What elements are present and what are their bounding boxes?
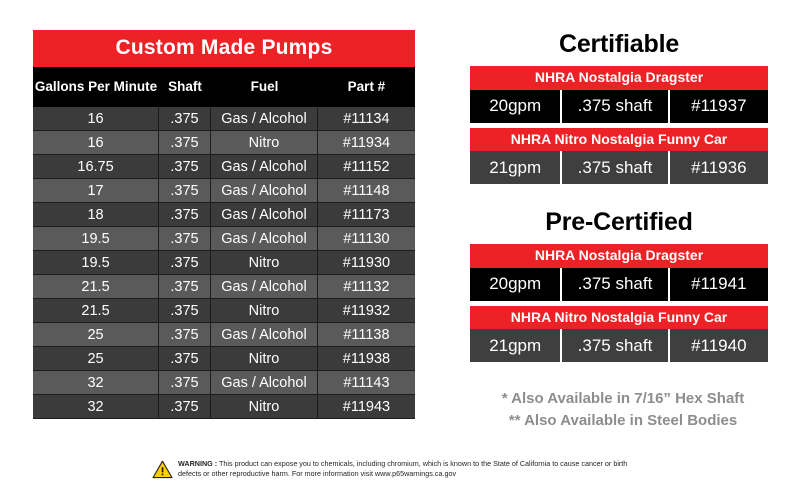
table-row: 32.375Nitro#11943 bbox=[33, 395, 415, 419]
cell-fuel: Nitro bbox=[211, 347, 318, 370]
certifiable-section: Certifiable NHRA Nostalgia Dragster20gpm… bbox=[470, 30, 768, 189]
precertified-cell-part-number: #11940 bbox=[670, 329, 768, 362]
warning-triangle-icon bbox=[152, 460, 173, 484]
prop65-warning-text: WARNING : This product can expose you to… bbox=[178, 459, 648, 480]
cell-fuel: Gas / Alcohol bbox=[211, 275, 318, 298]
cell-gallons-per-minute: 32 bbox=[33, 395, 159, 418]
cell-part-number: #11134 bbox=[318, 107, 415, 130]
cell-shaft: .375 bbox=[159, 155, 211, 178]
cell-fuel: Gas / Alcohol bbox=[211, 323, 318, 346]
table-row: 21.5.375Nitro#11932 bbox=[33, 299, 415, 323]
table-row: 16.375Gas / Alcohol#11134 bbox=[33, 107, 415, 131]
cell-fuel: Gas / Alcohol bbox=[211, 371, 318, 394]
precertified-cell-gpm: 21gpm bbox=[470, 329, 562, 362]
cell-fuel: Nitro bbox=[211, 131, 318, 154]
table-row: 17.375Gas / Alcohol#11148 bbox=[33, 179, 415, 203]
certifiable-cell-part-number: #11937 bbox=[670, 90, 768, 123]
cell-part-number: #11148 bbox=[318, 179, 415, 202]
footnote-line-2: ** Also Available in Steel Bodies bbox=[468, 410, 778, 432]
cell-shaft: .375 bbox=[159, 203, 211, 226]
main-table-title: Custom Made Pumps bbox=[33, 30, 415, 67]
certifiable-cell-gpm: 20gpm bbox=[470, 90, 562, 123]
main-table-body: 16.375Gas / Alcohol#1113416.375Nitro#119… bbox=[33, 107, 415, 419]
cell-part-number: #11938 bbox=[318, 347, 415, 370]
cell-gallons-per-minute: 17 bbox=[33, 179, 159, 202]
certifiable-category-bar: NHRA Nitro Nostalgia Funny Car bbox=[470, 128, 768, 152]
table-row: 21.5.375Gas / Alcohol#11132 bbox=[33, 275, 415, 299]
precertified-value-row: 21gpm.375 shaft#11940 bbox=[470, 329, 768, 362]
precertified-value-row: 20gpm.375 shaft#11941 bbox=[470, 268, 768, 301]
table-row: 25.375Gas / Alcohol#11138 bbox=[33, 323, 415, 347]
cell-part-number: #11138 bbox=[318, 323, 415, 346]
precertified-heading: Pre-Certified bbox=[470, 208, 768, 237]
cell-part-number: #11173 bbox=[318, 203, 415, 226]
cell-shaft: .375 bbox=[159, 131, 211, 154]
precertified-section: Pre-Certified NHRA Nostalgia Dragster20g… bbox=[470, 208, 768, 367]
cell-shaft: .375 bbox=[159, 395, 211, 418]
cell-gallons-per-minute: 25 bbox=[33, 347, 159, 370]
certifiable-value-row: 21gpm.375 shaft#11936 bbox=[470, 151, 768, 184]
cell-gallons-per-minute: 18 bbox=[33, 203, 159, 226]
cell-gallons-per-minute: 21.5 bbox=[33, 299, 159, 322]
cell-gallons-per-minute: 32 bbox=[33, 371, 159, 394]
cell-shaft: .375 bbox=[159, 299, 211, 322]
cell-part-number: #11930 bbox=[318, 251, 415, 274]
precertified-cell-shaft: .375 shaft bbox=[562, 268, 669, 301]
cell-shaft: .375 bbox=[159, 371, 211, 394]
cell-part-number: #11130 bbox=[318, 227, 415, 250]
cell-part-number: #11943 bbox=[318, 395, 415, 418]
column-header-part-number: Part # bbox=[318, 77, 415, 98]
footnotes: * Also Available in 7/16” Hex Shaft ** A… bbox=[468, 388, 778, 432]
cell-shaft: .375 bbox=[159, 275, 211, 298]
footnote-line-1: * Also Available in 7/16” Hex Shaft bbox=[468, 388, 778, 410]
cell-part-number: #11143 bbox=[318, 371, 415, 394]
cell-fuel: Gas / Alcohol bbox=[211, 179, 318, 202]
cell-part-number: #11132 bbox=[318, 275, 415, 298]
prop65-warning-body: This product can expose you to chemicals… bbox=[178, 459, 627, 478]
cell-part-number: #11152 bbox=[318, 155, 415, 178]
cell-shaft: .375 bbox=[159, 323, 211, 346]
precertified-cell-part-number: #11941 bbox=[670, 268, 768, 301]
cell-fuel: Gas / Alcohol bbox=[211, 203, 318, 226]
certifiable-cell-shaft: .375 shaft bbox=[562, 151, 669, 184]
precertified-category-bar: NHRA Nitro Nostalgia Funny Car bbox=[470, 306, 768, 330]
precertified-cell-gpm: 20gpm bbox=[470, 268, 562, 301]
table-row: 19.5.375Nitro#11930 bbox=[33, 251, 415, 275]
cell-gallons-per-minute: 16 bbox=[33, 107, 159, 130]
certifiable-cell-shaft: .375 shaft bbox=[562, 90, 669, 123]
cell-fuel: Nitro bbox=[211, 251, 318, 274]
certifiable-value-row: 20gpm.375 shaft#11937 bbox=[470, 90, 768, 123]
cell-gallons-per-minute: 19.5 bbox=[33, 227, 159, 250]
precertified-category-bar: NHRA Nostalgia Dragster bbox=[470, 244, 768, 268]
cell-gallons-per-minute: 16 bbox=[33, 131, 159, 154]
certifiable-table: NHRA Nostalgia Dragster20gpm.375 shaft#1… bbox=[470, 66, 768, 184]
table-row: 19.5.375Gas / Alcohol#11130 bbox=[33, 227, 415, 251]
cell-gallons-per-minute: 16.75 bbox=[33, 155, 159, 178]
cell-fuel: Gas / Alcohol bbox=[211, 107, 318, 130]
cell-gallons-per-minute: 19.5 bbox=[33, 251, 159, 274]
main-table-header-row: Gallons Per Minute Shaft Fuel Part # bbox=[33, 67, 415, 107]
prop65-warning-label: WARNING : bbox=[178, 459, 217, 468]
table-row: 16.75.375Gas / Alcohol#11152 bbox=[33, 155, 415, 179]
column-header-shaft: Shaft bbox=[159, 77, 211, 98]
certifiable-heading: Certifiable bbox=[470, 30, 768, 59]
table-row: 32.375Gas / Alcohol#11143 bbox=[33, 371, 415, 395]
cell-shaft: .375 bbox=[159, 227, 211, 250]
cell-fuel: Nitro bbox=[211, 395, 318, 418]
certifiable-cell-part-number: #11936 bbox=[670, 151, 768, 184]
table-row: 25.375Nitro#11938 bbox=[33, 347, 415, 371]
precertified-table: NHRA Nostalgia Dragster20gpm.375 shaft#1… bbox=[470, 244, 768, 362]
cell-shaft: .375 bbox=[159, 251, 211, 274]
cell-fuel: Nitro bbox=[211, 299, 318, 322]
cell-part-number: #11934 bbox=[318, 131, 415, 154]
column-header-fuel: Fuel bbox=[211, 77, 318, 98]
cell-shaft: .375 bbox=[159, 347, 211, 370]
cell-gallons-per-minute: 21.5 bbox=[33, 275, 159, 298]
certifiable-cell-gpm: 21gpm bbox=[470, 151, 562, 184]
cell-gallons-per-minute: 25 bbox=[33, 323, 159, 346]
cell-fuel: Gas / Alcohol bbox=[211, 227, 318, 250]
cell-shaft: .375 bbox=[159, 179, 211, 202]
cell-shaft: .375 bbox=[159, 107, 211, 130]
cell-fuel: Gas / Alcohol bbox=[211, 155, 318, 178]
cell-part-number: #11932 bbox=[318, 299, 415, 322]
table-row: 18.375Gas / Alcohol#11173 bbox=[33, 203, 415, 227]
custom-made-pumps-table: Custom Made Pumps Gallons Per Minute Sha… bbox=[33, 30, 415, 419]
column-header-gallons-per-minute: Gallons Per Minute bbox=[33, 77, 159, 98]
certifiable-category-bar: NHRA Nostalgia Dragster bbox=[470, 66, 768, 90]
table-row: 16.375Nitro#11934 bbox=[33, 131, 415, 155]
prop65-warning: WARNING : This product can expose you to… bbox=[0, 459, 800, 484]
precertified-cell-shaft: .375 shaft bbox=[562, 329, 669, 362]
